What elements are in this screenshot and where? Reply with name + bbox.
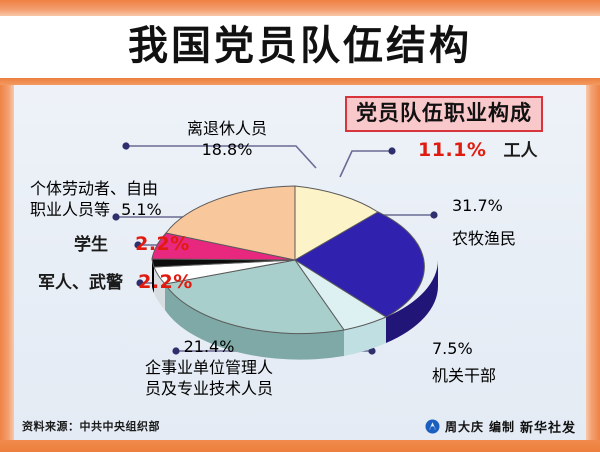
callout-cadres-label: 机关干部 [432, 366, 496, 385]
frame-bottom-border [0, 440, 600, 452]
callout-workers-pct: 11.1% [418, 139, 486, 161]
credit-agency: 新华社发 [520, 417, 576, 436]
callout-farmers-pct: 31.7% [452, 196, 503, 215]
xinhua-circle-logo-icon [425, 419, 440, 434]
leader-dot-retired [122, 142, 129, 149]
callout-self-employed: 个体劳动者、自由 职业人员等 5.1% [30, 178, 162, 220]
leader-line-workers [340, 151, 392, 177]
credit-author: 周大庆 [445, 418, 484, 435]
leader-dot-workers [388, 147, 395, 154]
callout-retired-label: 离退休人员 [187, 119, 267, 138]
credit-line: 周大庆 编制 新华社发 [425, 417, 576, 436]
callout-cadres-pct: 7.5% [432, 339, 473, 358]
callout-self-employed-label-1: 个体劳动者、自由 [30, 179, 158, 198]
source-note: 资料来源：中共中央组织部 [22, 418, 160, 434]
page-title: 我国党员队伍结构 [0, 18, 600, 74]
callout-retired-pct: 18.8% [202, 140, 253, 159]
leader-dot-farmers [430, 211, 437, 218]
callout-self-employed-label-2: 职业人员等 [30, 200, 110, 219]
chart-subtitle-badge: 党员队伍职业构成 [345, 96, 543, 132]
callout-farmers: 31.7% 农牧渔民 [452, 195, 516, 249]
callout-enterprise-label-2: 员及专业技术人员 [145, 379, 273, 398]
callout-students: 学生 2.2% [74, 234, 190, 256]
callout-enterprise: 21.4% 企事业单位管理人 员及专业技术人员 [104, 336, 314, 399]
callout-enterprise-pct: 21.4% [184, 337, 235, 356]
callout-workers: 11.1% 工人 [418, 140, 538, 162]
callout-self-employed-pct: 5.1% [121, 200, 162, 219]
title-divider-rule [0, 78, 600, 85]
callout-workers-label: 工人 [504, 141, 538, 161]
callout-students-label: 学生 [74, 235, 108, 255]
callout-retired: 离退休人员 18.8% [152, 118, 302, 160]
callout-students-pct: 2.2% [135, 233, 190, 255]
infographic-poster: 我国党员队伍结构 [0, 0, 600, 452]
credit-role: 编制 [489, 418, 515, 435]
callout-cadres: 7.5% 机关干部 [432, 338, 496, 386]
callout-military-pct: 2.2% [138, 271, 193, 293]
callout-farmers-label: 农牧渔民 [452, 229, 516, 248]
callout-enterprise-label-1: 企事业单位管理人 [145, 358, 273, 377]
callout-military-label: 军人、武警 [38, 273, 123, 293]
callout-military: 军人、武警 2.2% [38, 272, 193, 294]
